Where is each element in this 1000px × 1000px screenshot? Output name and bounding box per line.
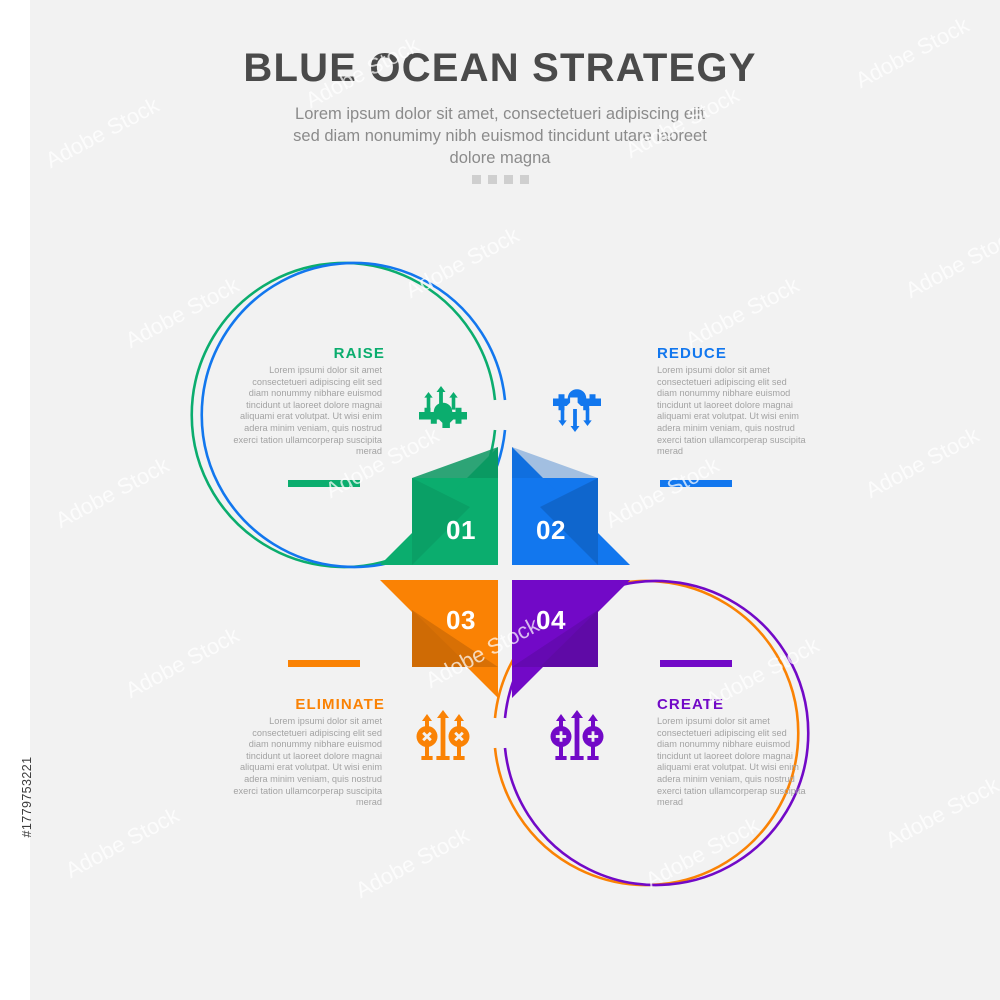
quadrant-body-eliminate: Lorem ipsumi dolor sit amet consectetuer… bbox=[232, 716, 382, 809]
quadrant-body-create: Lorem ipsumi dolor sit amet consectetuer… bbox=[657, 716, 807, 809]
quadrant-heading-reduce: REDUCE bbox=[657, 345, 812, 362]
arrows-up-cross-icon bbox=[416, 708, 470, 762]
segment-number-02: 02 bbox=[536, 515, 566, 546]
infographic-canvas: BLUE OCEAN STRATEGY Lorem ipsum dolor si… bbox=[0, 0, 1000, 1000]
segment-01-shadow bbox=[412, 447, 498, 478]
pinwheel-segment-01[interactable] bbox=[380, 447, 498, 565]
segment-02-shadow-2 bbox=[512, 447, 598, 478]
quadrant-underline-eliminate bbox=[288, 660, 360, 667]
quadrant-body-raise: Lorem ipsumi dolor sit amet consectetuer… bbox=[232, 365, 382, 458]
quadrant-underline-reduce bbox=[660, 480, 732, 487]
pinwheel-graphic bbox=[0, 0, 1000, 1000]
quadrant-heading-raise: RAISE bbox=[230, 345, 385, 362]
quadrant-heading-eliminate: ELIMINATE bbox=[230, 696, 385, 713]
quadrant-body-reduce: Lorem ipsumi dolor sit amet consectetuer… bbox=[657, 365, 807, 458]
pinwheel-segment-02[interactable] bbox=[512, 447, 630, 565]
quadrant-heading-create: CREATE bbox=[657, 696, 812, 713]
segment-number-03: 03 bbox=[446, 605, 476, 636]
segment-number-01: 01 bbox=[446, 515, 476, 546]
gear-arrows-down-icon bbox=[550, 382, 604, 436]
gear-arrows-up-icon bbox=[416, 382, 470, 436]
quadrant-underline-create bbox=[660, 660, 732, 667]
pinwheel-segment-04[interactable] bbox=[512, 580, 630, 698]
asset-id-label: #1779753221 bbox=[20, 682, 34, 912]
segment-number-04: 04 bbox=[536, 605, 566, 636]
pinwheel-segment-03[interactable] bbox=[380, 580, 498, 698]
sidebar-strip: #1779753221 bbox=[0, 0, 30, 1000]
arrows-up-plus-icon bbox=[550, 708, 604, 762]
quadrant-underline-raise bbox=[288, 480, 360, 487]
